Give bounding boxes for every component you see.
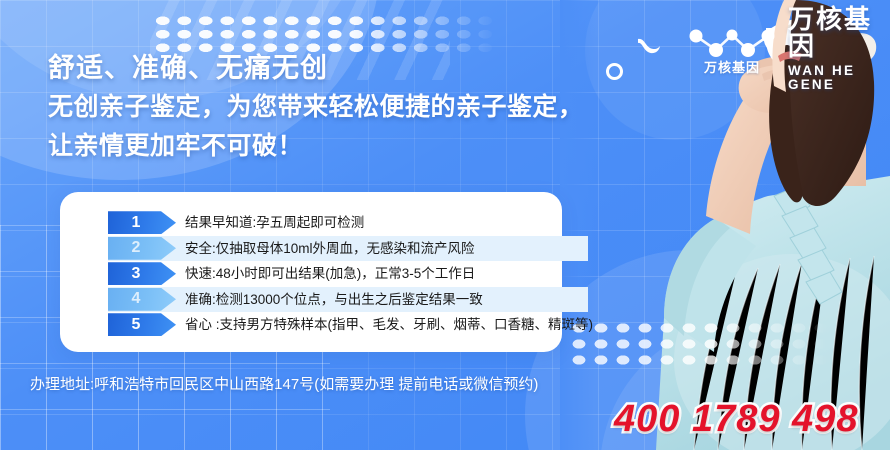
- feature-row: 4 准确:检测13000个位点，与出生之后鉴定结果一致: [60, 287, 562, 313]
- decorative-swoosh-icon: [636, 36, 662, 56]
- decorative-ring-icon: [606, 63, 623, 80]
- feature-text: 准确:检测13000个位点，与出生之后鉴定结果一致: [185, 293, 483, 307]
- office-address: 办理地址:呼和浩特市回民区中山西路147号(如需要办理 提前电话或微信预约): [30, 373, 538, 394]
- feature-text: 快速:48小时即可出结果(加急)，正常3-5个工作日: [185, 267, 475, 281]
- features-list: 1 结果早知道:孕五周起即可检测 2 安全:仅抽取母体10ml外周血，无感染和流…: [60, 210, 562, 338]
- feature-text: 安全:仅抽取母体10ml外周血，无感染和流产风险: [185, 242, 475, 256]
- feature-text: 结果早知道:孕五周起即可检测: [185, 216, 364, 230]
- headline: 舒适、准确、无痛无创 无创亲子鉴定，为您带来轻松便捷的亲子鉴定， 让亲情更加牢不…: [48, 50, 584, 165]
- brand-name-cn: 万核基因: [788, 6, 890, 61]
- feature-row: 5 省心 :支持男方特殊样本(指甲、毛发、牙刷、烟蒂、口香糖、精斑等): [60, 312, 562, 338]
- feature-row: 2 安全:仅抽取母体10ml外周血，无感染和流产风险: [60, 236, 562, 262]
- logo-mark-label: 万核基因: [686, 57, 778, 76]
- hotline-phone-number[interactable]: 400 1789 498: [614, 398, 858, 441]
- dna-molecule-icon: 万核基因: [686, 23, 778, 75]
- headline-line-3: 让亲情更加牢不可破！: [48, 127, 584, 165]
- decorative-dot-grid-top: [152, 14, 497, 52]
- feature-text: 省心 :支持男方特殊样本(指甲、毛发、牙刷、烟蒂、口香糖、精斑等): [185, 318, 593, 332]
- headline-line-1: 舒适、准确、无痛无创: [48, 50, 584, 87]
- feature-row: 3 快速:48小时即可出结果(加急)，正常3-5个工作日: [60, 261, 562, 287]
- brand-wordmark: 万核基因 WAN HE GENE: [788, 6, 890, 92]
- brand-name-en: WAN HE GENE: [788, 64, 890, 92]
- headline-line-2: 无创亲子鉴定，为您带来轻松便捷的亲子鉴定，: [48, 87, 584, 127]
- brand-logo: 万核基因 万核基因 WAN HE GENE: [686, 6, 890, 92]
- advertisement-banner: 万核基因 万核基因 WAN HE GENE 舒适、准确、无痛无创 无创亲子鉴定，…: [0, 0, 890, 450]
- features-card: 1 结果早知道:孕五周起即可检测 2 安全:仅抽取母体10ml外周血，无感染和流…: [60, 192, 562, 352]
- feature-row: 1 结果早知道:孕五周起即可检测: [60, 210, 562, 236]
